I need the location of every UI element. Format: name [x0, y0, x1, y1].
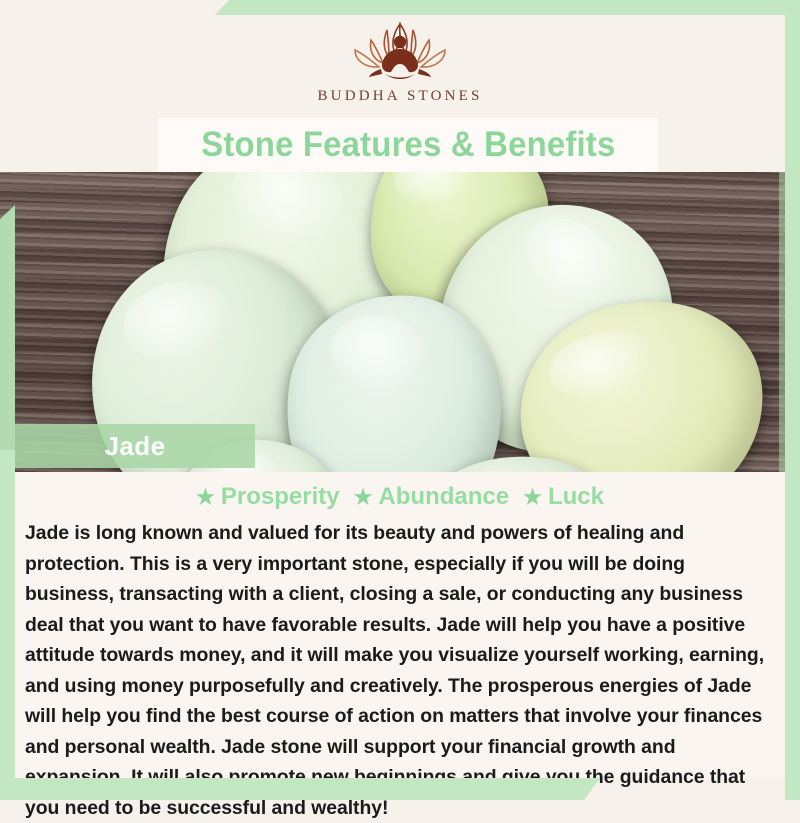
benefit-label: Prosperity: [221, 483, 340, 511]
benefit-item: ★ Luck: [523, 483, 604, 511]
decorative-bottom-green-bar: [0, 778, 600, 800]
star-icon: ★: [354, 487, 373, 508]
stone-description: Jade is long known and valued for its be…: [23, 518, 777, 823]
decorative-left-green-band-upper: [0, 205, 15, 453]
title-band: Stone Features & Benefits: [158, 118, 658, 172]
lotus-meditation-icon: [325, 16, 475, 86]
decorative-top-green-bar: [215, 0, 800, 15]
stone-info-panel: ★ Prosperity ★ Abundance ★ Luck Jade is …: [15, 472, 785, 778]
brand-name: BUDDHA STONES: [317, 88, 482, 105]
star-icon: ★: [196, 487, 215, 508]
benefit-label: Luck: [548, 483, 604, 511]
benefit-item: ★ Abundance: [354, 483, 510, 511]
decorative-right-green-band: [785, 0, 800, 800]
decorative-left-green-band-lower: [0, 450, 15, 800]
benefit-label: Abundance: [378, 483, 509, 511]
benefit-item: ★ Prosperity: [196, 483, 340, 511]
star-icon: ★: [523, 487, 542, 508]
page-title: Stone Features & Benefits: [201, 125, 615, 165]
benefits-row: ★ Prosperity ★ Abundance ★ Luck: [23, 480, 777, 514]
stone-name-label: Jade: [105, 431, 166, 462]
brand-header: BUDDHA STONES: [0, 0, 800, 120]
stone-name-band: Jade: [15, 424, 255, 468]
decorative-right-inner-accent: [779, 172, 785, 472]
